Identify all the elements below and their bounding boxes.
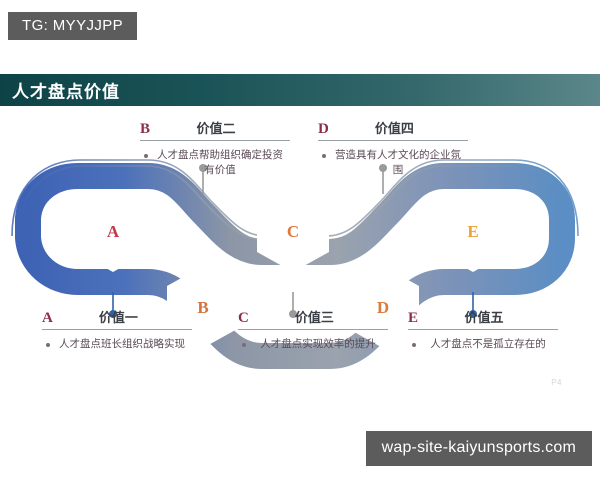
hexagon-letter-e: E bbox=[467, 222, 478, 241]
callout-b-head: B 价值二 bbox=[140, 122, 290, 141]
bullet-icon bbox=[322, 154, 326, 158]
tg-watermark-chip: TG: MYYJJPP bbox=[8, 12, 137, 40]
callout-b-text: 人才盘点帮助组织确定投资有价值 bbox=[154, 148, 286, 178]
callout-d-title: 价值四 bbox=[339, 122, 468, 135]
bullet-icon bbox=[46, 343, 50, 347]
bullet-icon bbox=[412, 343, 416, 347]
hexagon-letter-b: B bbox=[197, 298, 208, 317]
callout-c-body: 人才盘点实现效率的提升 bbox=[238, 337, 388, 352]
callout-c-title: 价值三 bbox=[259, 311, 388, 324]
callout-e-text: 人才盘点不是孤立存在的 bbox=[422, 337, 554, 352]
callout-c-head: C 价值三 bbox=[238, 311, 388, 330]
page-title: 人才盘点价值 bbox=[12, 78, 120, 103]
bullet-icon bbox=[144, 154, 148, 158]
callout-e: E 价值五 人才盘点不是孤立存在的 bbox=[408, 311, 558, 352]
callout-c-text: 人才盘点实现效率的提升 bbox=[252, 337, 384, 352]
page-number: P4 bbox=[551, 378, 562, 387]
bullet-icon bbox=[242, 343, 246, 347]
callout-a-head: A 价值一 bbox=[42, 311, 192, 330]
callout-b-letter: B bbox=[140, 122, 150, 137]
callout-a-letter: A bbox=[42, 311, 53, 326]
callout-d-head: D 价值四 bbox=[318, 122, 468, 141]
callout-e-body: 人才盘点不是孤立存在的 bbox=[408, 337, 558, 352]
hexagon-letter-c: C bbox=[287, 222, 299, 241]
callout-b-title: 价值二 bbox=[160, 122, 290, 135]
site-watermark: wap-site-kaiyunsports.com bbox=[366, 431, 592, 466]
callout-a-body: 人才盘点班长组织战略实现 bbox=[42, 337, 192, 352]
callout-b-body: 人才盘点帮助组织确定投资有价值 bbox=[140, 148, 290, 178]
callout-d-body: 营造具有人才文化的企业氛围 bbox=[318, 148, 468, 178]
callout-e-letter: E bbox=[408, 311, 418, 326]
callout-d-text: 营造具有人才文化的企业氛围 bbox=[332, 148, 464, 178]
callout-d: D 价值四 营造具有人才文化的企业氛围 bbox=[318, 122, 468, 178]
callout-e-head: E 价值五 bbox=[408, 311, 558, 330]
callout-c: C 价值三 人才盘点实现效率的提升 bbox=[238, 311, 388, 352]
hexagon-letter-a: A bbox=[107, 222, 120, 241]
hexagon-chain-svg: A B C D E bbox=[0, 106, 600, 406]
hexagon-chain-diagram: A B C D E bbox=[0, 106, 600, 406]
callout-b: B 价值二 人才盘点帮助组织确定投资有价值 bbox=[140, 122, 290, 178]
callout-a-title: 价值一 bbox=[63, 311, 192, 324]
callout-d-letter: D bbox=[318, 122, 329, 137]
callout-a: A 价值一 人才盘点班长组织战略实现 bbox=[42, 311, 192, 352]
callout-e-title: 价值五 bbox=[428, 311, 558, 324]
page-title-band: 人才盘点价值 bbox=[0, 74, 600, 106]
callout-c-letter: C bbox=[238, 311, 249, 326]
callout-a-text: 人才盘点班长组织战略实现 bbox=[56, 337, 188, 352]
